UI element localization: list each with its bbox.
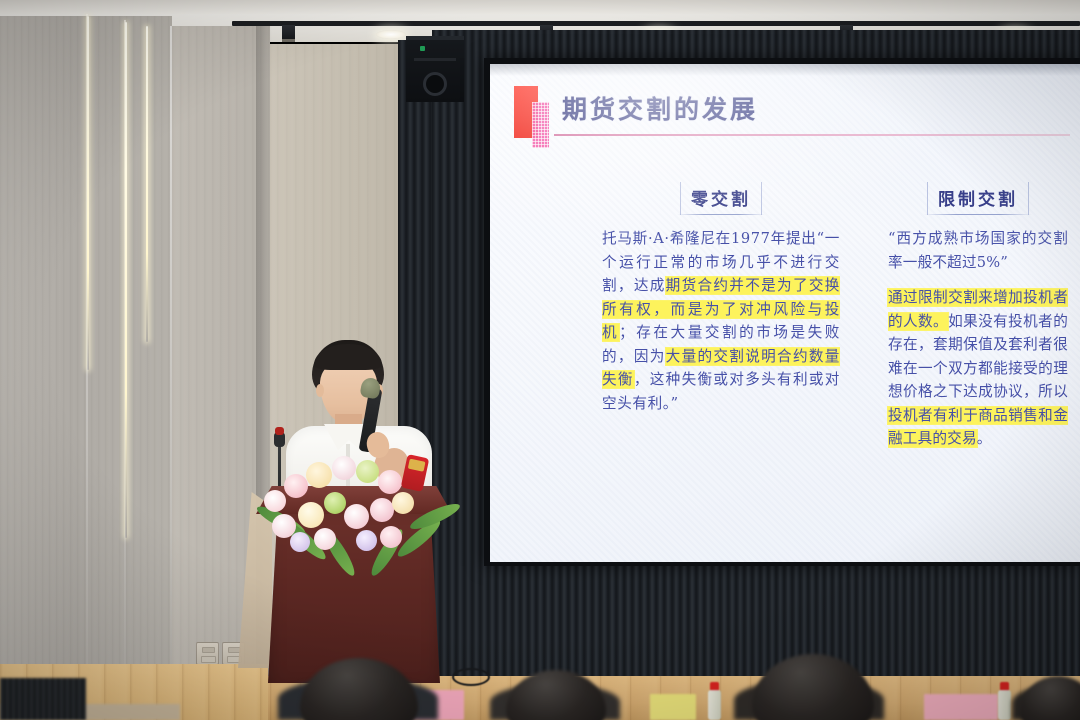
flower-arrangement <box>252 452 448 574</box>
wall-led-strip <box>125 22 127 538</box>
flower-bloom <box>306 462 332 488</box>
flower-bloom <box>290 532 310 552</box>
slide-title: 期货交割的发展 <box>562 90 758 126</box>
floor-cable <box>452 668 490 686</box>
wall-outlet[interactable] <box>196 642 219 665</box>
speaker-ear <box>316 384 324 397</box>
flower-bloom <box>356 530 377 551</box>
column-body-quote-restricted-delivery: “西方成熟市场国家的交割率一般不超过5%” <box>888 227 1068 274</box>
projector-lens <box>423 72 447 96</box>
flower-bloom <box>344 504 369 529</box>
audience-laptop <box>0 678 86 720</box>
projector-unit <box>406 36 464 102</box>
bottle-body <box>998 690 1011 720</box>
track-light-head <box>282 25 295 42</box>
audience-paper-sheet <box>924 694 998 720</box>
wall-led-strip <box>87 16 89 370</box>
projector-status-led <box>420 46 425 51</box>
text-run: “西方成熟市场国家的交割率一般不超过5%” <box>888 230 1068 271</box>
water-bottle <box>998 682 1011 720</box>
title-accent-dotted-bar <box>532 102 549 148</box>
flower-bloom <box>284 474 308 498</box>
text-run: ，这种失衡或对多头有利或对空头有利。” <box>602 371 840 412</box>
title-underline-rule <box>554 134 1070 136</box>
column-heading-zero-delivery: 零交割 <box>680 182 762 215</box>
water-bottle <box>708 682 721 720</box>
slide-column-restricted-delivery: 限制交割 “西方成熟市场国家的交割率一般不超过5%” 通过限制交割来增加投机者的… <box>888 182 1068 451</box>
ceiling-downlight <box>376 30 406 39</box>
ceiling-track-rail <box>232 21 1080 26</box>
flower-bloom <box>356 460 379 483</box>
flower-bloom <box>392 492 414 514</box>
text-run: 。 <box>977 430 992 447</box>
projection-screen[interactable]: 期货交割的发展 零交割 托马斯·A·希隆尼在1977年提出“一个运行正常的市场几… <box>490 64 1080 562</box>
flower-bloom <box>370 498 394 522</box>
flower-bloom <box>378 470 402 494</box>
column-body-zero-delivery: 托马斯·A·希隆尼在1977年提出“一个运行正常的市场几乎不进行交割，达成期货合… <box>602 227 840 415</box>
wall-led-strip <box>146 26 148 342</box>
column-heading-restricted-delivery: 限制交割 <box>927 182 1029 215</box>
flower-bloom <box>332 456 356 480</box>
flower-bloom <box>298 502 324 528</box>
column-body-restricted-delivery: 通过限制交割来增加投机者的人数。如果没有投机者的存在，套期保值及套利者很难在一个… <box>888 286 1068 451</box>
flower-bloom <box>380 526 402 548</box>
audience-paper-sheet <box>650 694 696 720</box>
wall-edge-highlight <box>170 26 172 676</box>
bouquet-ribbon <box>401 454 430 492</box>
flower-bloom <box>264 490 286 512</box>
screen-top-shadow <box>490 64 1080 76</box>
flower-bloom <box>324 492 346 514</box>
ceiling-soffit <box>0 0 1080 14</box>
screenshot-root: 期货交割的发展 零交割 托马斯·A·希隆尼在1977年提出“一个运行正常的市场几… <box>0 0 1080 720</box>
flower-bloom <box>314 528 336 550</box>
bottle-body <box>708 690 721 720</box>
slide-column-zero-delivery: 零交割 托马斯·A·希隆尼在1977年提出“一个运行正常的市场几乎不进行交割，达… <box>602 182 840 415</box>
projector-vent-slot <box>414 58 456 61</box>
